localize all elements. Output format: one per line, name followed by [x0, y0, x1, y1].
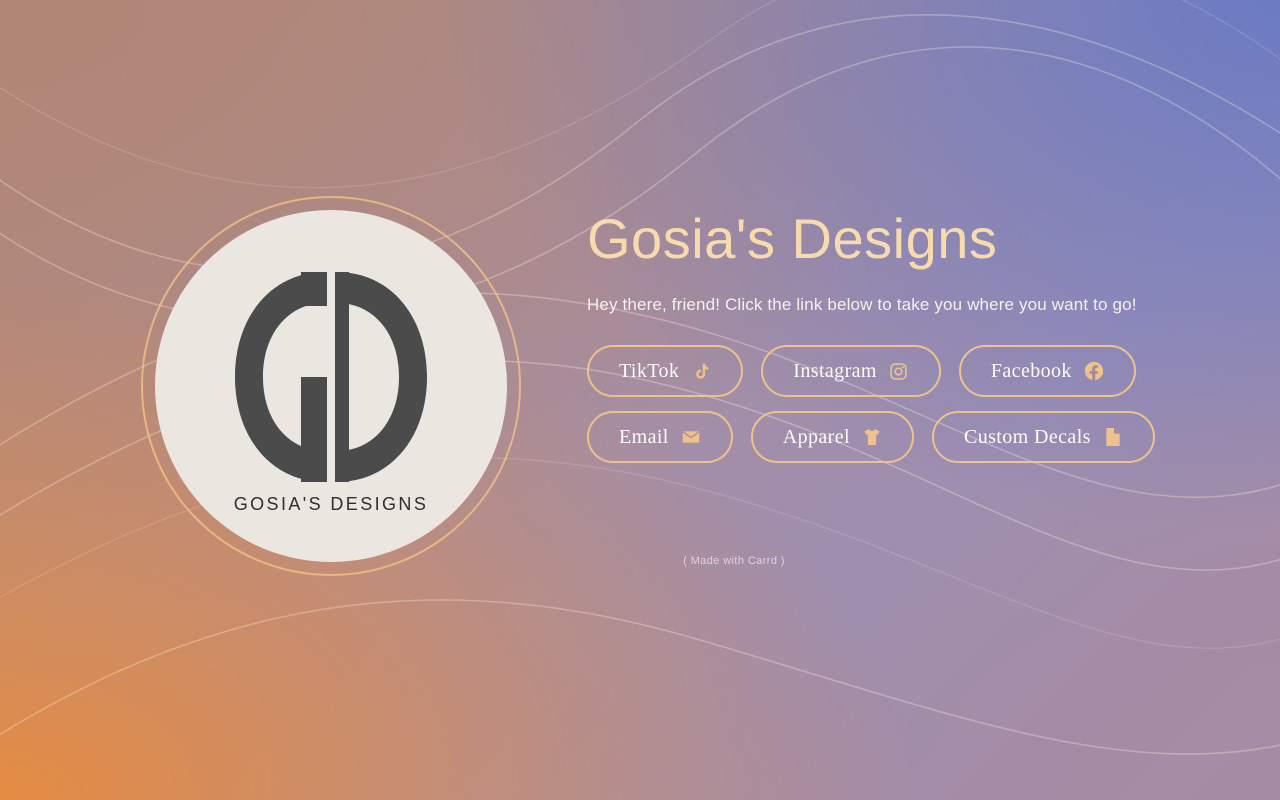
- link-row-social: TikTok Instagram Faceb: [587, 345, 1143, 397]
- link-button-label: Instagram: [793, 360, 877, 383]
- facebook-icon: [1084, 361, 1104, 381]
- instagram-icon: [889, 361, 909, 381]
- link-button-label: Apparel: [783, 426, 850, 449]
- link-button-label: Custom Decals: [964, 426, 1091, 449]
- link-button-apparel[interactable]: Apparel: [751, 411, 914, 463]
- footer-credit: ( Made with Carrd ): [601, 555, 867, 567]
- link-button-label: Email: [619, 426, 669, 449]
- logo: GOSIA'S DESIGNS: [141, 196, 521, 576]
- gd-monogram-icon: [225, 266, 437, 488]
- page-stage: GOSIA'S DESIGNS Gosia's Designs Hey ther…: [0, 0, 1280, 800]
- page-tagline: Hey there, friend! Click the link below …: [587, 295, 1143, 315]
- logo-wordmark: GOSIA'S DESIGNS: [234, 494, 428, 515]
- document-icon: [1103, 427, 1123, 447]
- page-title: Gosia's Designs: [587, 209, 1143, 269]
- link-button-tiktok[interactable]: TikTok: [587, 345, 743, 397]
- link-button-custom-decals[interactable]: Custom Decals: [932, 411, 1155, 463]
- link-row-shop: Email Apparel Custom Decals: [587, 411, 1143, 463]
- link-button-label: Facebook: [991, 360, 1072, 383]
- envelope-icon: [681, 427, 701, 447]
- content-column: Gosia's Designs Hey there, friend! Click…: [587, 209, 1143, 567]
- tiktok-icon: [691, 361, 711, 381]
- footer-credit-link[interactable]: ( Made with Carrd ): [683, 555, 785, 567]
- tshirt-icon: [862, 427, 882, 447]
- logo-disc: GOSIA'S DESIGNS: [155, 210, 507, 562]
- link-button-email[interactable]: Email: [587, 411, 733, 463]
- link-button-instagram[interactable]: Instagram: [761, 345, 941, 397]
- link-button-label: TikTok: [619, 360, 679, 383]
- link-button-facebook[interactable]: Facebook: [959, 345, 1136, 397]
